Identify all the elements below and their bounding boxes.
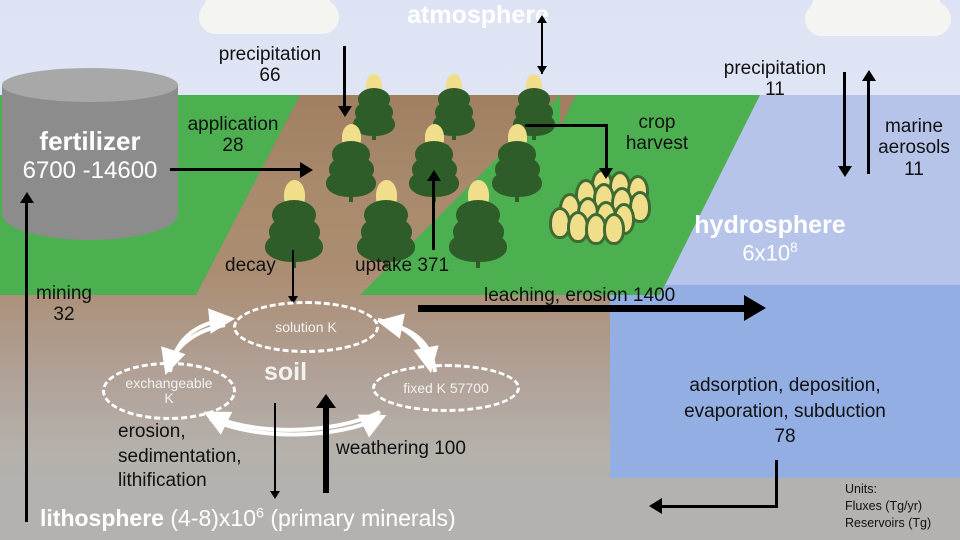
- ocean-sink-line2: evaporation, subduction: [640, 399, 930, 425]
- corn-plant: [264, 180, 324, 266]
- uptake-arrow-stem: [432, 178, 435, 250]
- lithosphere-mantissa: (4-8)x10: [170, 505, 256, 531]
- flux-precipitation-land-label: precipitation 66: [200, 44, 340, 87]
- flux-crop-harvest-label: crop harvest: [608, 112, 706, 155]
- marine-aerosols-arrow-head: [862, 70, 876, 81]
- flux-precipitation-ocean-label: precipitation 11: [700, 58, 850, 101]
- flux-weathering-label: weathering 100: [336, 438, 466, 459]
- precipitation-land-text: precipitation: [200, 44, 340, 65]
- flux-application-label: application 28: [173, 114, 293, 157]
- precipitation-ocean-text: precipitation: [700, 58, 850, 79]
- lithosphere-name: lithosphere: [40, 505, 164, 531]
- atmosphere-exchange-arrow-head-down: [537, 66, 547, 74]
- weathering-arrow-head: [316, 394, 336, 408]
- erosion-arrow-head: [270, 491, 280, 499]
- lithosphere-suffix: (primary minerals): [270, 505, 455, 531]
- application-value: 28: [173, 135, 293, 156]
- crop-harvest-arrow-head: [599, 168, 613, 179]
- erosion-line1: erosion,: [118, 420, 242, 445]
- flux-ocean-sink-label: adsorption, deposition, evaporation, sub…: [640, 373, 930, 450]
- marine-aerosols-text1: marine: [868, 116, 960, 137]
- precipitation-land-arrow-stem: [343, 46, 346, 108]
- precipitation-land-arrow-head: [338, 106, 352, 117]
- erosion-line2: sedimentation,: [118, 445, 242, 470]
- fertilizer-label: fertilizer: [2, 127, 178, 156]
- application-text: application: [173, 114, 293, 135]
- flux-marine-aerosols-label: marine aerosols 11: [868, 116, 960, 180]
- units-legend: Units: Fluxes (Tg/yr) Reservoirs (Tg): [845, 481, 931, 532]
- corn-plant: [356, 180, 416, 266]
- erosion-arrow-stem: [274, 403, 276, 493]
- k-cycle-diagram: atmosphere hydrosphere 6x108 lithosphere…: [0, 0, 960, 540]
- flux-decay-label: decay: [225, 255, 276, 276]
- corn-plant: [448, 180, 508, 266]
- weathering-arrow-stem: [323, 405, 329, 493]
- mining-arrow-head: [20, 192, 34, 203]
- units-reservoirs: Reservoirs (Tg): [845, 515, 931, 532]
- marine-aerosols-text2: aerosols: [868, 137, 960, 158]
- ocean-sink-value: 78: [640, 424, 930, 450]
- precipitation-ocean-value: 11: [700, 79, 850, 100]
- application-arrow-stem: [170, 168, 302, 171]
- marine-aerosols-value: 11: [868, 159, 960, 180]
- crop-harvest-text1: crop: [608, 112, 706, 133]
- lithosphere-exponent: 6: [256, 505, 264, 521]
- units-fluxes: Fluxes (Tg/yr): [845, 498, 931, 515]
- precipitation-land-value: 66: [200, 65, 340, 86]
- erosion-line3: lithification: [118, 469, 242, 494]
- precipitation-ocean-arrow-head: [838, 166, 852, 177]
- mining-arrow-stem: [25, 200, 28, 522]
- crop-harvest-arrow-vertical: [605, 124, 608, 172]
- leaching-erosion-arrow-head: [744, 295, 766, 321]
- reservoir-label-lithosphere: lithosphere (4-8)x106 (primary minerals): [40, 506, 560, 531]
- cloud-left-icon: [195, 0, 345, 36]
- harvested-crop-pile: [550, 172, 658, 244]
- ocean-sink-arrow-horizontal: [662, 505, 778, 508]
- flux-uptake-label: uptake 371: [355, 255, 449, 276]
- application-arrow-head: [300, 162, 313, 178]
- cloud-right-icon: [805, 0, 955, 36]
- hydrosphere-exponent: 8: [790, 240, 798, 255]
- fixed-to-solution-arrow: [382, 322, 435, 372]
- atmosphere-exchange-arrow-head-up: [537, 15, 547, 23]
- fertilizer-value: 6700 -14600: [2, 158, 178, 184]
- fertilizer-cylinder-top: [2, 68, 178, 102]
- flux-erosion-sedimentation-label: erosion, sedimentation, lithification: [118, 420, 242, 494]
- reservoir-label-atmosphere: atmosphere: [398, 2, 558, 30]
- crop-harvest-arrow-horizontal: [525, 124, 607, 127]
- ocean-sink-arrow-vertical: [775, 460, 778, 508]
- units-heading: Units:: [845, 481, 931, 498]
- ocean-sink-line1: adsorption, deposition,: [640, 373, 930, 399]
- crop-harvest-text2: harvest: [608, 133, 706, 154]
- reservoir-value-hydrosphere: 6x108: [650, 240, 890, 266]
- uptake-arrow-head: [427, 170, 441, 181]
- hydrosphere-mantissa: 6x10: [742, 240, 790, 265]
- soil-pool-exchange-arrows: [90, 290, 540, 440]
- precipitation-ocean-arrow-stem: [843, 72, 846, 168]
- reservoir-label-hydrosphere: hydrosphere: [650, 212, 890, 240]
- ocean-sink-arrow-head: [649, 498, 662, 514]
